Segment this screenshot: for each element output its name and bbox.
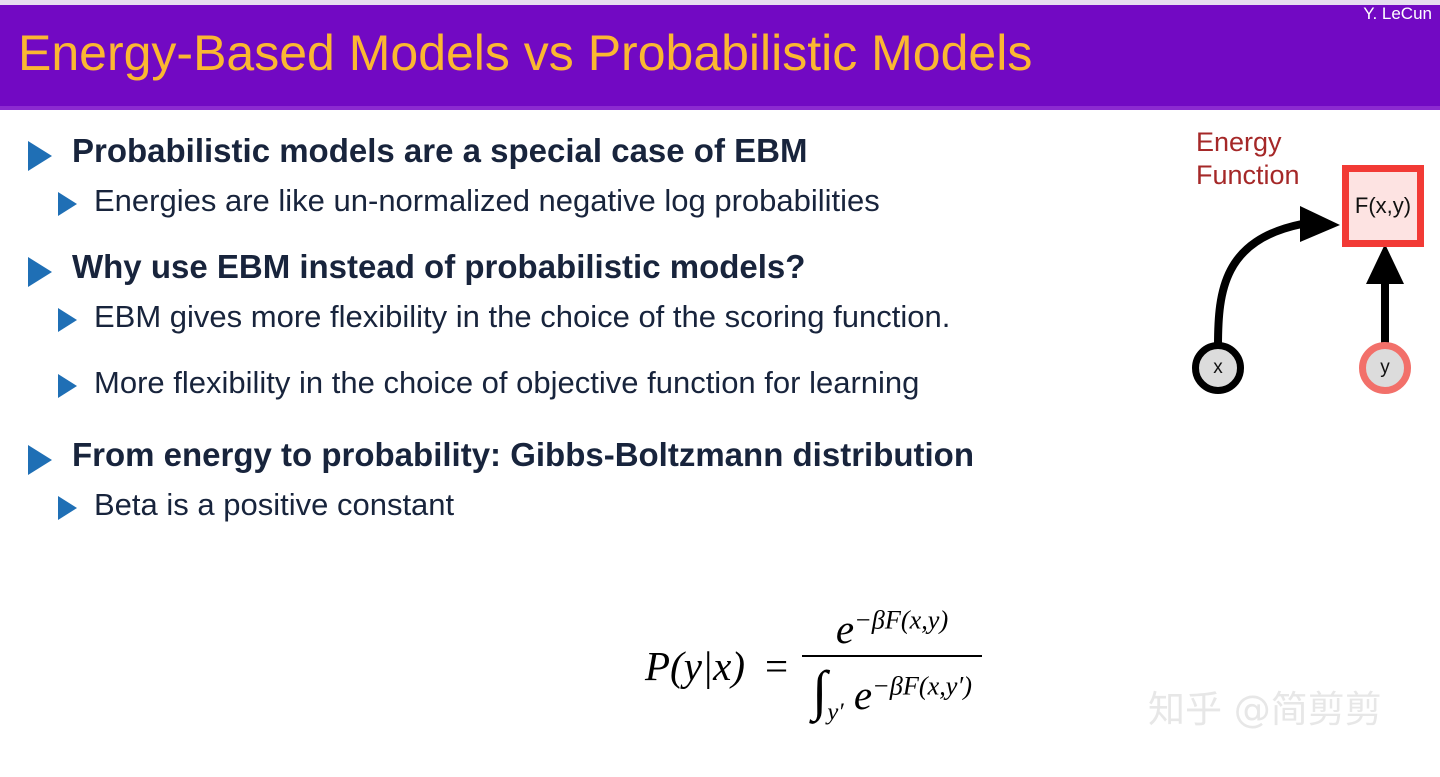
bullet-triangle-icon [28,445,52,475]
energy-function-box-label: F(x,y) [1355,193,1411,219]
bullet-triangle-icon [28,257,52,287]
bullet-triangle-icon [58,192,77,216]
integral-symbol: ∫ [812,660,827,721]
numerator-exponent: −βF(x,y) [854,606,948,635]
header-underline [0,106,1440,110]
list-item-label: Beta is a positive constant [94,482,454,528]
formula-numerator: e−βF(x,y) [826,605,958,655]
list-item: Beta is a positive constant [0,482,1160,528]
list-item-label: Energies are like un-normalized negative… [94,178,880,224]
bullet-triangle-icon [58,496,77,520]
input-node-x: x [1192,342,1244,394]
list-item-label: From energy to probability: Gibbs-Boltzm… [72,432,974,478]
list-item: Why use EBM instead of probabilistic mod… [0,244,1160,290]
bullet-triangle-icon [58,374,77,398]
denominator-exponent: −βF(x,y′) [872,672,972,701]
curved-arrow-x-to-f [1218,224,1302,346]
numerator-base: e [836,606,854,652]
input-node-y: y [1359,342,1411,394]
bullet-triangle-icon [58,308,77,332]
list-item: Probabilistic models are a special case … [0,128,1160,174]
list-item-label: Probabilistic models are a special case … [72,128,807,174]
energy-function-diagram: Energy Function F(x,y) x y [1182,120,1440,405]
slide-canvas: Energy-Based Models vs Probabilistic Mod… [0,0,1440,777]
input-node-x-label: x [1213,357,1223,379]
gibbs-boltzmann-formula: P(y|x) = e−βF(x,y) ∫y′ e−βF(x,y′) [645,605,982,726]
list-item: More flexibility in the choice of object… [0,360,1160,406]
formula-left-hand-side: P(y|x) [645,642,751,690]
author-credit: Y. LeCun [1363,4,1432,24]
list-item-label: More flexibility in the choice of object… [94,360,919,406]
energy-function-label: Energy Function [1196,126,1300,192]
list-item: From energy to probability: Gibbs-Boltzm… [0,432,1160,478]
formula-fraction: e−βF(x,y) ∫y′ e−βF(x,y′) [802,605,982,726]
list-item-label: EBM gives more flexibility in the choice… [94,294,950,340]
list-spacer [0,344,1160,360]
list-spacer [0,228,1160,244]
list-item: EBM gives more flexibility in the choice… [0,294,1160,340]
formula-equals-sign: = [751,642,802,690]
watermark: 知乎 @简剪剪 [1148,688,1382,732]
formula-denominator: ∫y′ e−βF(x,y′) [802,657,982,726]
input-node-y-label: y [1380,357,1390,379]
bullet-triangle-icon [28,141,52,171]
denominator-base: e [854,672,872,718]
energy-function-box: F(x,y) [1342,165,1424,247]
page-title: Energy-Based Models vs Probabilistic Mod… [18,22,1032,84]
list-item: Energies are like un-normalized negative… [0,178,1160,224]
list-item-label: Why use EBM instead of probabilistic mod… [72,244,805,290]
straight-arrowhead-icon [1366,244,1404,284]
curved-arrowhead-icon [1300,206,1340,242]
list-spacer [0,410,1160,432]
integral-subscript: y′ [827,698,843,725]
bullet-list: Probabilistic models are a special case … [0,128,1160,532]
